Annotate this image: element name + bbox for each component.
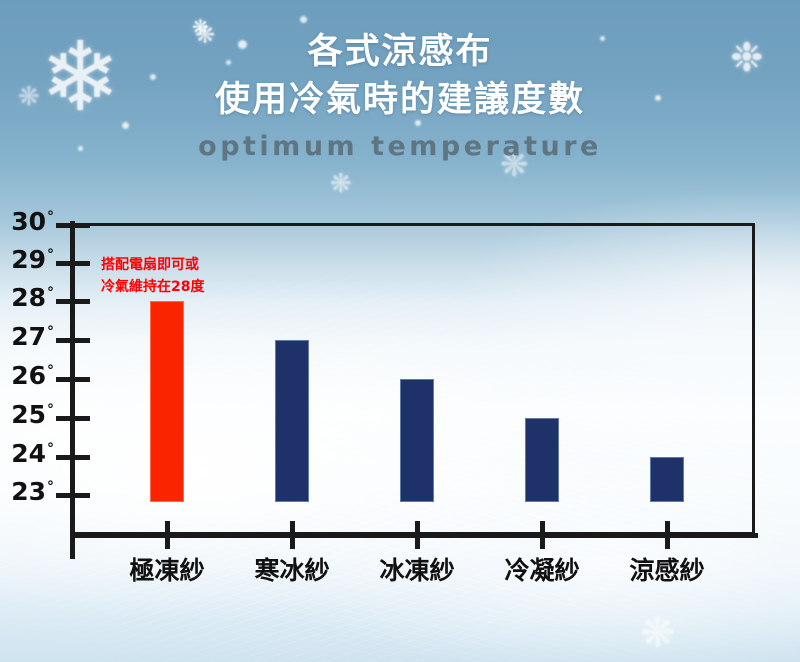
y-axis-tick [56, 223, 90, 228]
x-axis-tick [165, 521, 170, 549]
bar-寒冰紗 [275, 340, 309, 502]
x-axis-tick [415, 521, 420, 549]
y-axis-tick [56, 261, 90, 266]
y-axis-label: 30° [11, 207, 54, 236]
page-subtitle: optimum temperature [0, 131, 800, 162]
y-axis-tick [56, 299, 90, 304]
x-axis-tick [290, 521, 295, 549]
y-axis-line [70, 221, 75, 559]
x-axis-label-冷凝紗: 冷凝紗 [482, 551, 602, 587]
y-axis-label: 28° [11, 283, 54, 312]
y-axis-label: 27° [11, 322, 54, 351]
y-axis-label: 25° [11, 400, 54, 429]
bar-冰凍紗 [400, 379, 434, 502]
bar-極凍紗 [150, 301, 184, 502]
poster-canvas: ❄❋❋❉❋❋❋❋ 各式涼感布 使用冷氣時的建議度數 optimum temper… [0, 0, 800, 662]
x-axis-label-涼感紗: 涼感紗 [607, 551, 727, 587]
bar-冷凝紗 [525, 418, 559, 502]
y-axis-tick [56, 416, 90, 421]
y-axis-tick [56, 377, 90, 382]
y-axis-label: 26° [11, 361, 54, 390]
y-axis-tick [56, 493, 90, 498]
page-title-line-2: 使用冷氣時的建議度數 [0, 76, 800, 124]
y-axis-tick [56, 338, 90, 343]
x-axis-tick [540, 521, 545, 549]
x-axis-label-寒冰紗: 寒冰紗 [232, 551, 352, 587]
x-axis-label-極凍紗: 極凍紗 [107, 551, 227, 587]
x-axis-line [70, 533, 758, 538]
y-axis-tick [56, 455, 90, 460]
y-axis-label: 24° [11, 439, 54, 468]
y-axis-label: 23° [11, 477, 54, 506]
x-axis-label-冰凍紗: 冰凍紗 [357, 551, 477, 587]
annotation-line-2: 冷氣維持在28度 [101, 277, 271, 299]
annotation-line-1: 搭配電扇即可或 [101, 255, 271, 277]
y-axis-label: 29° [11, 245, 54, 274]
page-title-line-1: 各式涼感布 [0, 28, 800, 76]
x-axis-tick [665, 521, 670, 549]
highlight-annotation: 搭配電扇即可或 冷氣維持在28度 [101, 255, 271, 298]
bar-涼感紗 [650, 457, 684, 502]
poster-header: 各式涼感布 使用冷氣時的建議度數 optimum temperature [0, 28, 800, 162]
